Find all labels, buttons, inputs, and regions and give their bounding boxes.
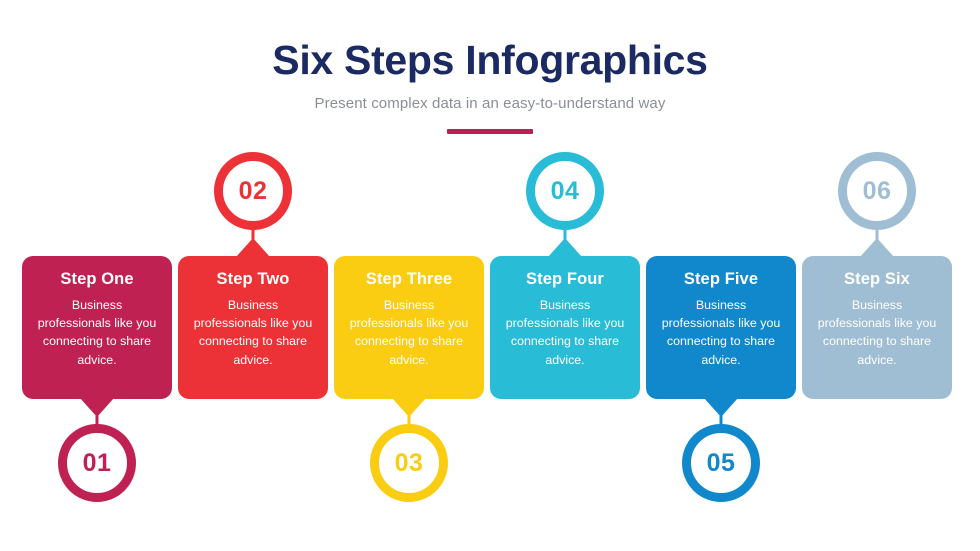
step-card-title: Step Two: [186, 270, 320, 289]
step-card[interactable]: Step TwoBusiness professionals like you …: [178, 256, 328, 399]
step-card-body: Business professionals like you connecti…: [810, 296, 944, 369]
step-05[interactable]: 05Step FiveBusiness professionals like y…: [646, 152, 796, 522]
step-02[interactable]: 02Step TwoBusiness professionals like yo…: [178, 152, 328, 522]
step-card[interactable]: Step OneBusiness professionals like you …: [22, 256, 172, 399]
infographic-header: Six Steps Infographics Present complex d…: [0, 0, 980, 134]
step-number-label: 01: [83, 451, 112, 476]
step-card-title: Step Five: [654, 270, 788, 289]
step-card[interactable]: Step ThreeBusiness professionals like yo…: [334, 256, 484, 399]
page-subtitle: Present complex data in an easy-to-under…: [0, 83, 980, 112]
title-underline-divider: [447, 129, 533, 134]
step-card-pointer: [392, 398, 426, 417]
step-number-circle[interactable]: 01: [58, 424, 136, 502]
step-card[interactable]: Step SixBusiness professionals like you …: [802, 256, 952, 399]
step-number-circle[interactable]: 02: [214, 152, 292, 230]
step-card-body: Business professionals like you connecti…: [654, 296, 788, 369]
step-card-title: Step Three: [342, 270, 476, 289]
step-number-circle[interactable]: 05: [682, 424, 760, 502]
step-card-title: Step Six: [810, 270, 944, 289]
step-card-pointer: [236, 238, 270, 257]
page-title: Six Steps Infographics: [0, 0, 980, 83]
step-06[interactable]: 06Step SixBusiness professionals like yo…: [802, 152, 952, 522]
step-number-label: 06: [863, 179, 892, 204]
step-number-label: 03: [395, 451, 424, 476]
step-card-pointer: [548, 238, 582, 257]
step-card-title: Step Four: [498, 270, 632, 289]
step-card-pointer: [704, 398, 738, 417]
step-number-circle[interactable]: 04: [526, 152, 604, 230]
step-number-circle[interactable]: 06: [838, 152, 916, 230]
step-card[interactable]: Step FourBusiness professionals like you…: [490, 256, 640, 399]
step-number-label: 04: [551, 179, 580, 204]
step-03[interactable]: 03Step ThreeBusiness professionals like …: [334, 152, 484, 522]
step-04[interactable]: 04Step FourBusiness professionals like y…: [490, 152, 640, 522]
step-card-body: Business professionals like you connecti…: [186, 296, 320, 369]
step-number-label: 05: [707, 451, 736, 476]
step-card-body: Business professionals like you connecti…: [30, 296, 164, 369]
step-number-label: 02: [239, 179, 268, 204]
step-card-pointer: [860, 238, 894, 257]
step-card[interactable]: Step FiveBusiness professionals like you…: [646, 256, 796, 399]
steps-container: 01Step OneBusiness professionals like yo…: [22, 152, 958, 522]
step-card-pointer: [80, 398, 114, 417]
step-card-body: Business professionals like you connecti…: [498, 296, 632, 369]
step-card-title: Step One: [30, 270, 164, 289]
step-01[interactable]: 01Step OneBusiness professionals like yo…: [22, 152, 172, 522]
step-number-circle[interactable]: 03: [370, 424, 448, 502]
step-card-body: Business professionals like you connecti…: [342, 296, 476, 369]
